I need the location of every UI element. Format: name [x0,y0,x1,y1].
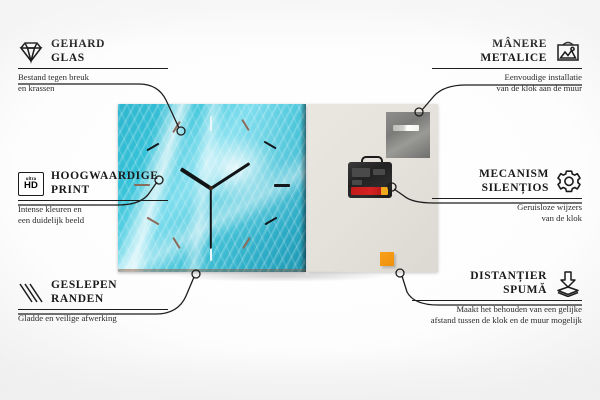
diamond-icon [18,40,44,64]
marker-distantier-spuma [396,269,404,277]
diagonal-lines-icon [18,281,44,305]
feature-divider [18,68,168,69]
feature-divider [18,309,168,310]
feature-title: GEHARD GLAS [51,38,105,65]
feature-subtitle: Geruisloze wijzers van de klok [432,202,582,223]
feature-divider [18,200,168,201]
picture-frame-hanger-icon [554,40,582,64]
feature-header: MÂNERE METALICE [432,38,582,65]
infographic-canvas: GEHARD GLAS Bestand tegen breuk en krass… [0,0,600,400]
arrow-down-stack-icon [554,271,582,297]
ultra-hd-icon: ultra HD [18,172,44,196]
feature-title: MECANISM SILENȚIOS [479,168,549,195]
feature-header: ultra HD HOOGWAARDIGE PRINT [18,170,168,197]
feature-title: DISTANȚIER SPUMĂ [470,270,547,297]
feature-subtitle: Eenvoudige installatie van de klok aan d… [432,72,582,93]
feature-distantier-spuma: DISTANȚIER SPUMĂ Maakt het behouden van … [412,270,582,325]
feature-divider [432,68,582,69]
feature-header: GEHARD GLAS [18,38,168,65]
feature-title: HOOGWAARDIGE PRINT [51,170,159,197]
feature-divider [432,198,582,199]
feature-subtitle: Maakt het behouden van een gelijke afsta… [412,304,582,325]
marker-mecanism-silentios [388,183,396,191]
marker-geslepen-randen [192,270,200,278]
feature-manere-metalice: MÂNERE METALICE Eenvoudige installatie v… [432,38,582,93]
marker-gehard-glas [177,127,185,135]
feature-geslepen-randen: GESLEPEN RANDEN Gladde en veilige afwerk… [18,279,168,324]
feature-header: GESLEPEN RANDEN [18,279,168,306]
feature-mecanism-silentios: MECANISM SILENȚIOS Geruisloze wijzers va… [432,168,582,223]
feature-title: MÂNERE METALICE [480,38,547,65]
gear-icon [556,169,582,194]
feature-header: MECANISM SILENȚIOS [432,168,582,195]
feature-hoogwaardige-print: ultra HD HOOGWAARDIGE PRINT Intense kleu… [18,170,168,225]
feature-header: DISTANȚIER SPUMĂ [412,270,582,297]
marker-manere-metalice [415,108,423,116]
feature-divider [412,300,582,301]
feature-gehard-glas: GEHARD GLAS Bestand tegen breuk en krass… [18,38,168,93]
feature-title: GESLEPEN RANDEN [51,279,117,306]
feature-subtitle: Intense kleuren en een duidelijk beeld [18,204,168,225]
feature-subtitle: Gladde en veilige afwerking [18,313,168,324]
feature-subtitle: Bestand tegen breuk en krassen [18,72,168,93]
